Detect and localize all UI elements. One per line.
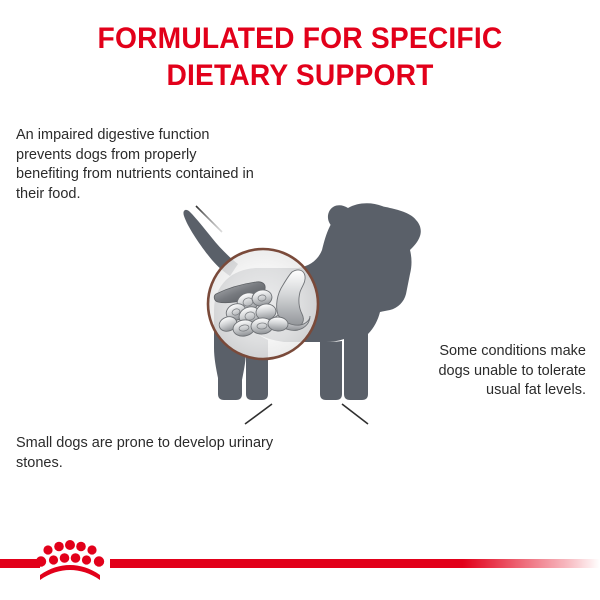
page-title: FORMULATED FOR SPECIFIC DIETARY SUPPORT (18, 20, 582, 94)
page-title-line-2: DIETARY SUPPORT (18, 57, 582, 94)
brand-bar-right (110, 559, 600, 568)
dog-illustration (150, 198, 460, 413)
callout-text-top-left: An impaired digestive function prevents … (16, 126, 260, 204)
callout-text-bottom-left: Small dogs are prone to develop urinary … (16, 434, 278, 473)
infographic-page: FORMULATED FOR SPECIFIC DIETARY SUPPORT … (0, 0, 600, 600)
page-title-line-1: FORMULATED FOR SPECIFIC (18, 20, 582, 57)
brand-bar-left (0, 559, 40, 568)
digestive-highlight-circle (208, 249, 318, 359)
royal-canin-crown-logo (36, 540, 104, 580)
footer-brand-bar (0, 528, 600, 600)
